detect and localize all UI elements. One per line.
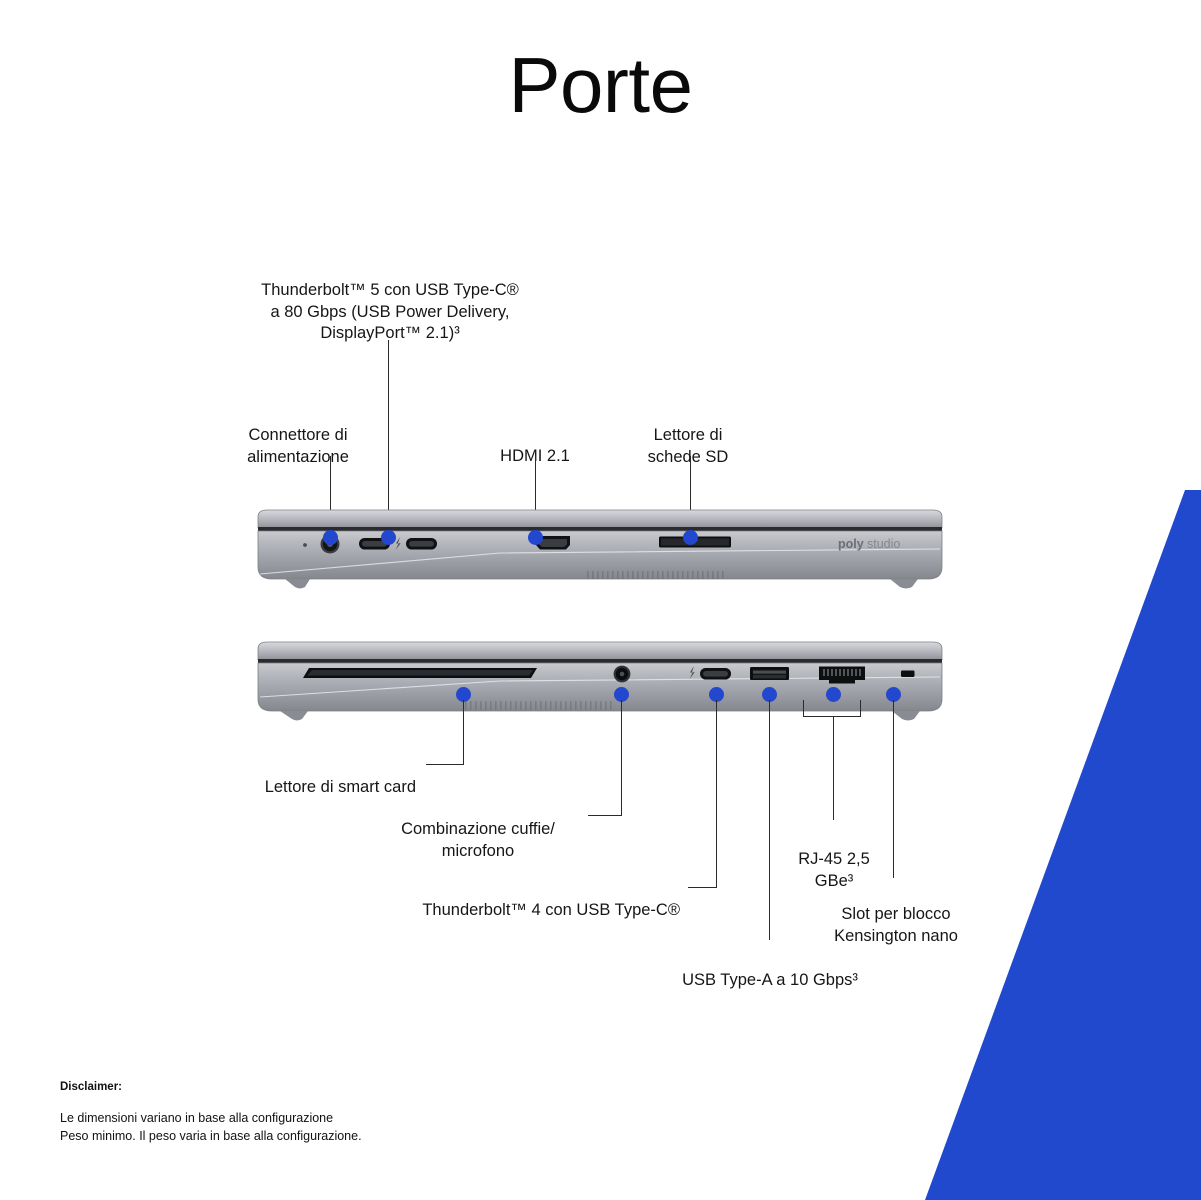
leader-line-thunderbolt4-h: [688, 887, 717, 888]
studio-brand-text: studio: [867, 537, 900, 551]
hotspot-sd-card-reader[interactable]: [683, 530, 698, 545]
callout-kensington-lock: Slot per blocco Kensington nano: [800, 882, 992, 947]
leader-line-smart-card-h: [426, 764, 464, 765]
kensington-lock-slot-icon: [901, 671, 915, 678]
disclaimer-body: Le dimensioni variano in base alla confi…: [60, 1110, 362, 1146]
hotspot-thunderbolt5[interactable]: [381, 530, 396, 545]
disclaimer-heading: Disclaimer:: [60, 1081, 122, 1093]
leader-line-kensington: [893, 700, 894, 878]
callout-power-connector: Connettore di alimentazione: [178, 403, 418, 468]
callout-headphone-mic-label: Combinazione cuffie/ microfono: [401, 820, 555, 860]
headphone-mic-jack-icon: [614, 666, 631, 683]
leader-line-rj45-left-tick: [803, 700, 804, 717]
leader-line-headphone-v: [621, 700, 622, 815]
hotspot-power-connector[interactable]: [323, 530, 338, 545]
bottom-device-illustration: [250, 637, 950, 732]
callout-usb-type-a-label: USB Type-A a 10 Gbps³: [682, 971, 858, 989]
leader-line-usb-type-a: [769, 700, 770, 940]
top-device-illustration: poly studio: [250, 505, 950, 600]
usb-type-c-thunderbolt4-port-icon: [700, 668, 731, 680]
callout-smart-card-reader-label: Lettore di smart card: [265, 778, 416, 796]
poly-brand-text: poly: [838, 537, 864, 551]
callout-thunderbolt5: Thunderbolt™ 5 con USB Type-C® a 80 Gbps…: [190, 258, 590, 345]
leader-line-rj45-bracket: [803, 716, 861, 717]
callout-usb-type-a: USB Type-A a 10 Gbps³: [655, 948, 885, 992]
status-led-icon: [303, 543, 307, 547]
callout-sd-card-reader-label: Lettore di schede SD: [648, 426, 729, 466]
callout-thunderbolt5-label: Thunderbolt™ 5 con USB Type-C® a 80 Gbps…: [261, 281, 519, 343]
leader-line-rj45-v: [833, 716, 834, 820]
callout-thunderbolt4-label: Thunderbolt™ 4 con USB Type-C®: [422, 901, 680, 919]
callout-power-connector-label: Connettore di alimentazione: [247, 426, 349, 466]
callout-sd-card-reader: Lettore di schede SD: [596, 403, 780, 468]
smart-card-reader-slot-icon: [303, 668, 537, 678]
brand-accent-wedge: [0, 0, 1201, 1200]
page-title: Porte: [0, 46, 1201, 124]
hotspot-hdmi[interactable]: [528, 530, 543, 545]
callout-headphone-mic: Combinazione cuffie/ microfono: [372, 797, 584, 862]
hotspot-rj45[interactable]: [826, 687, 841, 702]
callout-thunderbolt4: Thunderbolt™ 4 con USB Type-C®: [360, 878, 680, 922]
usb-type-a-port-icon: [750, 667, 789, 680]
leader-line-thunderbolt4-v: [716, 700, 717, 887]
leader-line-smart-card-v: [463, 700, 464, 764]
leader-line-headphone-h: [588, 815, 622, 816]
leader-line-rj45-right-tick: [860, 700, 861, 717]
callout-smart-card-reader: Lettore di smart card: [150, 755, 416, 799]
callout-kensington-lock-label: Slot per blocco Kensington nano: [834, 905, 958, 945]
usb-type-c-port-icon-2: [406, 538, 437, 550]
slide-canvas: Porte Thunderbolt™ 5 con USB Type-C® a 8…: [0, 0, 1201, 1200]
